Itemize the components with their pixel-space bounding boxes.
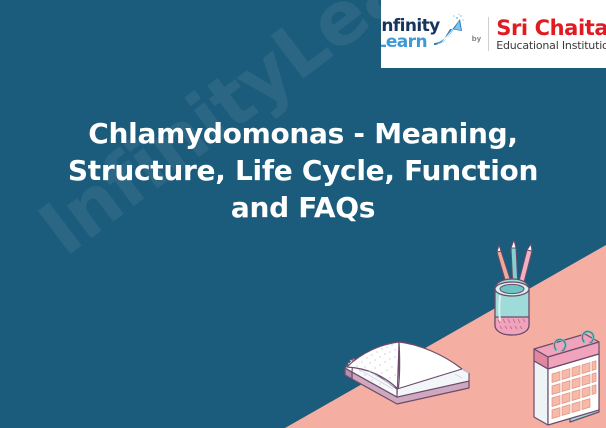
pencil-teal xyxy=(511,240,518,288)
sri-chaitanya-logo: Sri Chaitanya Educational Institutions xyxy=(496,17,606,52)
pencil-pink xyxy=(518,244,532,286)
page-title: Chlamydomonas - Meaning, Structure, Life… xyxy=(36,115,570,227)
sri-chaitanya-subtitle: Educational Institutions xyxy=(496,40,606,52)
infinity-arrow-icon xyxy=(428,13,468,53)
infinity-learn-logo: Infinity Learn xyxy=(381,12,468,56)
logo-panel: Infinity Learn by Sri Chaitanya Educa xyxy=(381,0,606,68)
pencil-salmon xyxy=(497,245,513,290)
logo-divider xyxy=(488,17,489,51)
logo-by-label: by xyxy=(472,25,482,43)
promo-banner: InfinityLearn.com xyxy=(0,0,606,428)
sri-chaitanya-title: Sri Chaitanya xyxy=(496,17,606,39)
